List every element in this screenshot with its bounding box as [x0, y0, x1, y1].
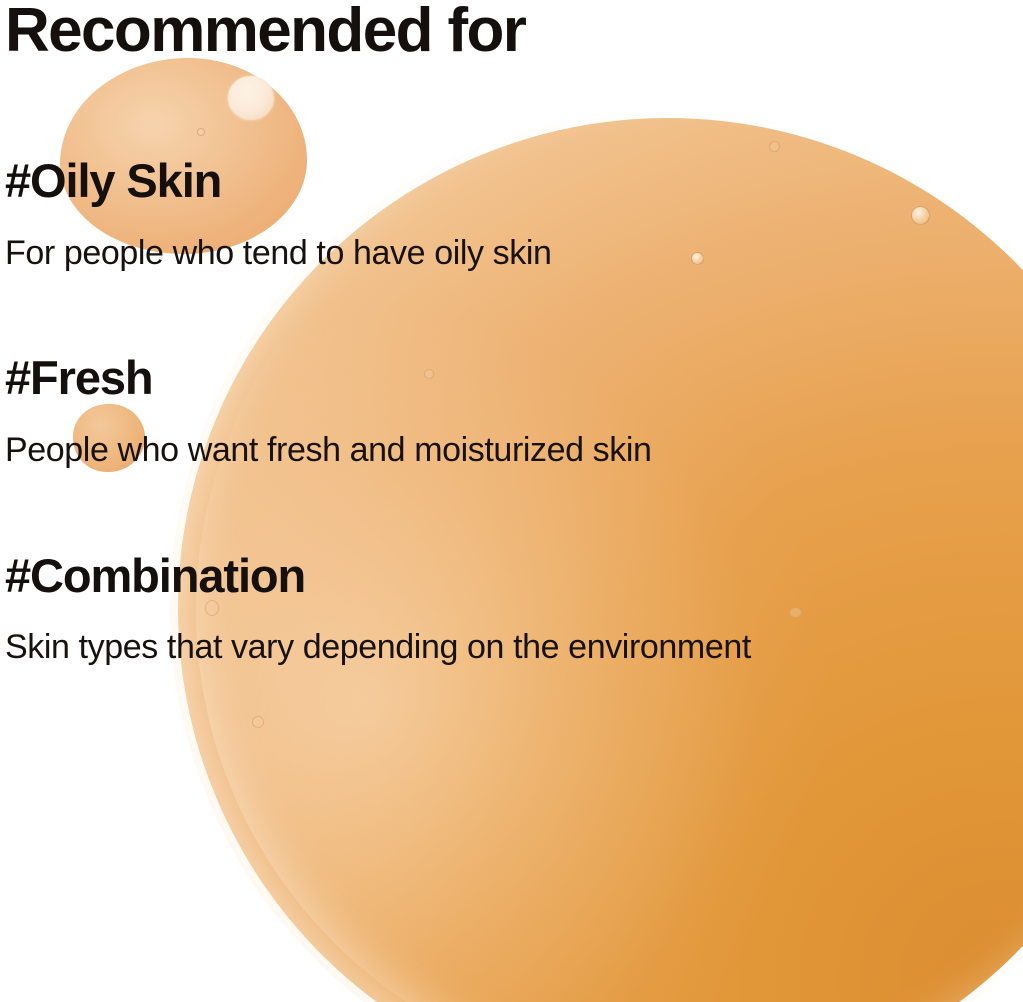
text-content: Recommended for #Oily Skin For people wh…	[0, 0, 1023, 1002]
section-body-oily-skin: For people who tend to have oily skin	[5, 236, 552, 272]
section-heading-combination: #Combination	[5, 551, 305, 600]
page-title: Recommended for	[5, 0, 525, 65]
recommended-for-infographic: Recommended for #Oily Skin For people wh…	[0, 0, 1023, 1002]
section-heading-fresh: #Fresh	[5, 353, 153, 402]
section-body-combination: Skin types that vary depending on the en…	[5, 630, 751, 666]
section-body-fresh: People who want fresh and moisturized sk…	[5, 433, 652, 469]
section-heading-oily-skin: #Oily Skin	[5, 156, 221, 205]
